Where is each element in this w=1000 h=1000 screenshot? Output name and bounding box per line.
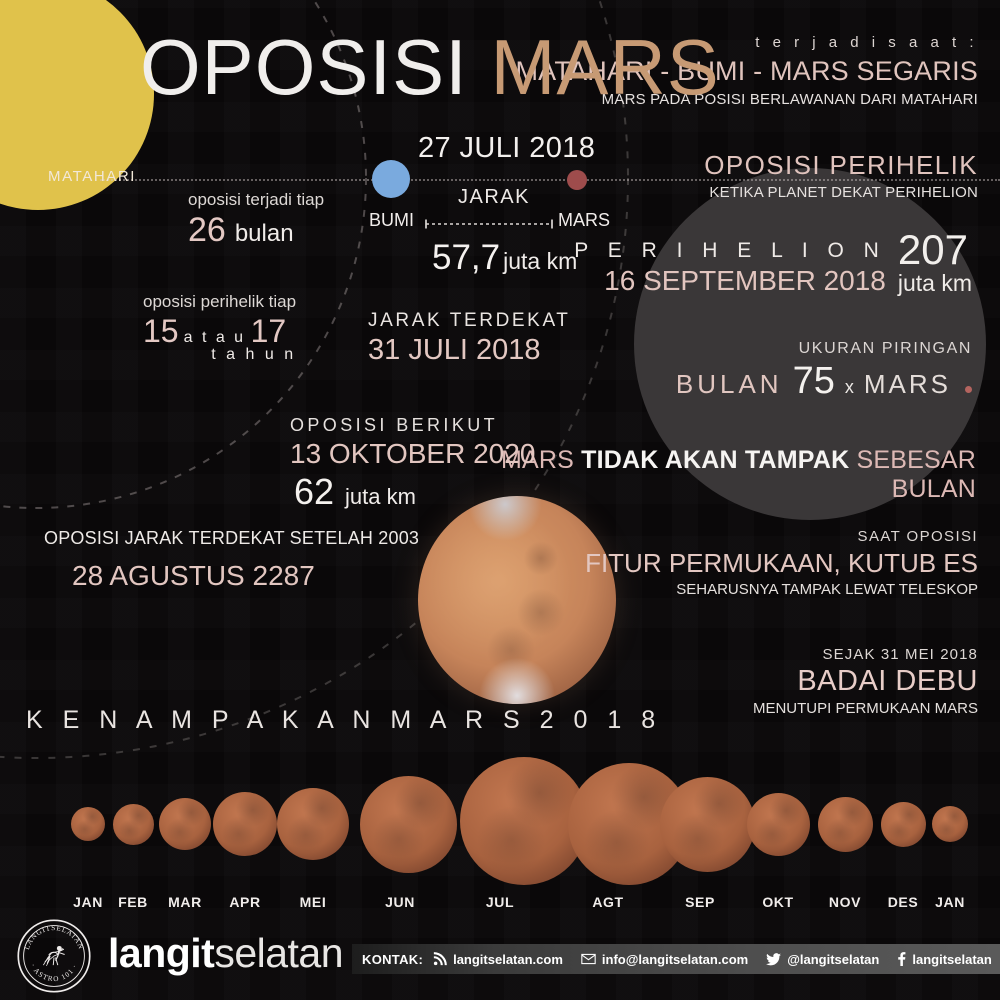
badai-main: BADAI DEBU	[458, 665, 978, 698]
berikut-label: OPOSISI BERIKUT	[290, 415, 535, 436]
jarak-value-group: 57,7 juta km	[432, 238, 577, 278]
ukuran-mars-label: MARS	[864, 369, 951, 400]
mars-dot	[567, 170, 587, 190]
mars-disc-cell: JAN	[910, 806, 990, 910]
mars-disc-month-label: SEP	[660, 894, 740, 910]
perihelion-block: P E R I H E L I O N 16 SEPTEMBER 2018 20…	[532, 230, 972, 297]
facebook-icon	[897, 952, 906, 966]
berikut-value: 62	[294, 471, 334, 513]
infographic-poster: MATAHARI OPOSISI MARS t e r j a d i s a …	[0, 0, 1000, 1000]
mars-disc-cell: MEI	[273, 788, 353, 910]
mars-size-chart: JANFEBMARAPRMEIJUNJULAGTSEPOKTNOVDESJAN	[0, 760, 1000, 910]
oposisi-terdekat-setelah-block: OPOSISI JARAK TERDEKAT SETELAH 2003 28 A…	[44, 528, 419, 592]
fitur-label: SAAT OPOSISI	[458, 528, 978, 545]
mars-disc	[277, 788, 349, 860]
terdekat-label: JARAK TERDEKAT	[368, 310, 571, 332]
mars-disc-month-label: AGT	[568, 894, 648, 910]
stat-oposisi-unit: bulan	[235, 220, 294, 248]
tampak-post: SEBESAR BULAN	[849, 446, 976, 503]
contact-facebook[interactable]: langitselatan	[897, 952, 991, 967]
jarak-label: JARAK	[458, 186, 530, 209]
fitur-sub: SEHARUSNYA TAMPAK LEWAT TELESKOP	[458, 581, 978, 598]
stat-perihelik-value1: 15	[143, 313, 179, 350]
stat-perihelik-middle: a t a u	[184, 329, 246, 347]
sun-label: MATAHARI	[48, 168, 136, 185]
ukuran-factor: 75	[793, 360, 835, 403]
brand-light: selatan	[214, 930, 343, 976]
earth-label: BUMI	[369, 210, 414, 231]
jarak-value: 57,7	[432, 238, 500, 278]
stat-oposisi-tiap: oposisi terjadi tiap 26 bulan	[188, 190, 324, 250]
mars-disc-cell: JUL	[460, 757, 540, 910]
earth-dot	[372, 160, 410, 198]
jarak-unit: juta km	[503, 248, 577, 275]
kenampakan-title: K E N A M P A K A N M A R S 2 0 1 8	[26, 706, 662, 735]
contact-twitter[interactable]: @langitselatan	[766, 952, 879, 967]
mars-label: MARS	[558, 210, 610, 231]
opposition-date: 27 JULI 2018	[418, 132, 595, 165]
tampak-bold: TIDAK AKAN TAMPAK	[581, 446, 849, 474]
kontak-label: KONTAK:	[362, 952, 423, 967]
contact-envelope[interactable]: info@langitselatan.com	[581, 952, 748, 967]
mars-disc	[360, 776, 457, 873]
perihelion-unit: juta km	[898, 270, 972, 297]
mars-size-dot-icon	[965, 386, 972, 393]
terdekat-date: 31 JULI 2018	[368, 334, 571, 367]
mars-disc-cell: JUN	[360, 776, 440, 911]
contact-text: @langitselatan	[787, 952, 879, 967]
mars-disc	[932, 806, 968, 842]
contact-text: langitselatan.com	[453, 952, 563, 967]
langitselatan-seal-logo: LANGITSELATAN · ASTRO 101 ·	[16, 918, 92, 994]
berikut-unit: juta km	[345, 484, 416, 510]
setelah-date: 28 AGUSTUS 2287	[44, 560, 419, 592]
ukuran-label: UKURAN PIRINGAN	[532, 340, 972, 358]
berikut-date: 13 OKTOBER 2020	[290, 438, 535, 470]
ukuran-piringan-block: UKURAN PIRINGAN BULAN 75 x MARS	[532, 340, 972, 403]
setelah-label: OPOSISI JARAK TERDEKAT SETELAH 2003	[44, 528, 419, 549]
footer-bar: LANGITSELATAN · ASTRO 101 · langitselata…	[0, 912, 1000, 1000]
contact-rss[interactable]: langitselatan.com	[433, 952, 563, 967]
svg-text:· ASTRO 101 ·: · ASTRO 101 ·	[29, 962, 80, 983]
stat-oposisi-label: oposisi terjadi tiap	[188, 190, 324, 210]
mars-disc-month-label: MEI	[273, 894, 353, 910]
badai-label: SEJAK 31 MEI 2018	[458, 646, 978, 663]
contact-bar: KONTAK: langitselatan.cominfo@langitsela…	[352, 944, 1000, 974]
ukuran-bulan-label: BULAN	[676, 369, 783, 400]
oposisi-berikut-block: OPOSISI BERIKUT 13 OKTOBER 2020 62 juta …	[290, 415, 535, 513]
mars-disc-cell: AGT	[568, 763, 648, 910]
mars-disc-cell: SEP	[660, 777, 740, 911]
rss-icon	[433, 952, 447, 966]
envelope-icon	[581, 953, 596, 965]
mars-disc	[747, 793, 810, 856]
stat-oposisi-perihelik-tiap: oposisi perihelik tiap 15 a t a u 17 t a…	[143, 292, 296, 364]
fitur-permukaan-block: SAAT OPOSISI FITUR PERMUKAAN, KUTUB ES S…	[458, 528, 978, 598]
title-part-oposisi: OPOSISI	[140, 23, 468, 111]
ukuran-times: x	[845, 377, 854, 398]
perihelion-date: 16 SEPTEMBER 2018	[574, 265, 886, 297]
contact-text: info@langitselatan.com	[602, 952, 748, 967]
distance-measure-bar	[425, 219, 553, 229]
mars-disc	[159, 798, 211, 850]
fitur-main: FITUR PERMUKAAN, KUTUB ES	[458, 548, 978, 579]
title-part-mars: MARS	[490, 23, 719, 111]
perihelion-word: P E R I H E L I O N	[574, 239, 886, 263]
mars-disc-month-label: JUN	[360, 894, 440, 910]
jarak-terdekat-block: JARAK TERDEKAT 31 JULI 2018	[368, 310, 571, 367]
twitter-icon	[766, 953, 781, 966]
contact-text: langitselatan	[912, 952, 991, 967]
stat-perihelik-value2: 17	[251, 313, 287, 350]
stat-oposisi-value: 26	[188, 211, 226, 250]
mars-disc-month-label: JAN	[910, 894, 990, 910]
stat-perihelik-label: oposisi perihelik tiap	[143, 292, 296, 312]
brand-bold: langit	[108, 930, 214, 976]
page-title: OPOSISI MARS	[140, 22, 720, 113]
brand-wordmark: langitselatan	[108, 930, 343, 977]
oposisi-perihelik-sub: KETIKA PLANET DEKAT PERIHELION	[458, 184, 978, 201]
mars-disc	[213, 792, 277, 856]
mars-disc-month-label: JUL	[460, 894, 540, 910]
perihelion-value: 207	[898, 230, 972, 270]
